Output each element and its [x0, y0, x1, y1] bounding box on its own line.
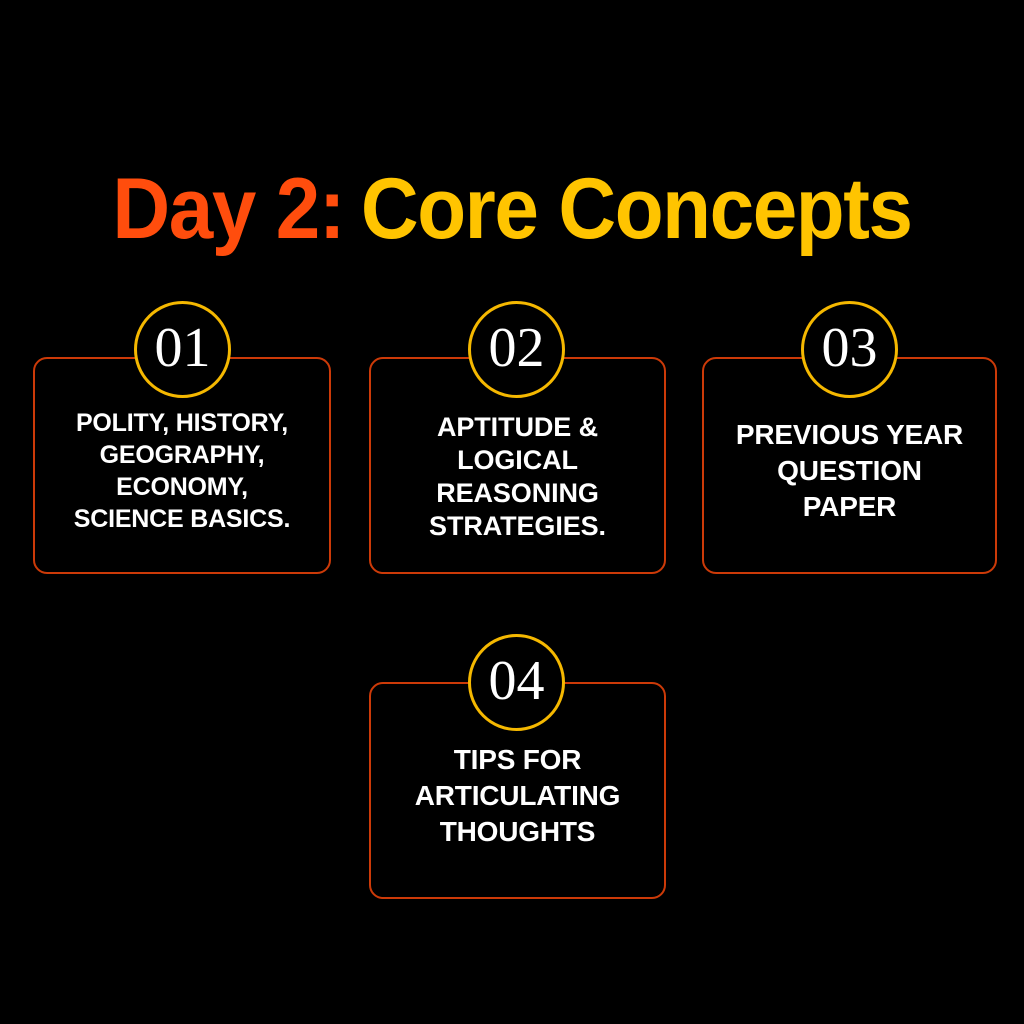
- concept-badge-2: 02: [468, 301, 565, 398]
- concept-badge-3: 03: [801, 301, 898, 398]
- concept-badge-3-number: 03: [822, 320, 878, 376]
- concept-card-2-text: APTITUDE & LOGICAL REASONING STRATEGIES.: [379, 411, 656, 543]
- concept-card-4-text: TIPS FOR ARTICULATING THOUGHTS: [379, 742, 656, 850]
- concept-badge-4: 04: [468, 634, 565, 731]
- concept-card-1-text: POLITY, HISTORY, GEOGRAPHY, ECONOMY, SCI…: [43, 407, 321, 535]
- slide-canvas: Day 2:Core Concepts POLITY, HISTORY, GEO…: [0, 0, 1024, 1024]
- concept-badge-1-number: 01: [155, 320, 211, 376]
- concept-badge-1: 01: [134, 301, 231, 398]
- concept-card-3-text: PREVIOUS YEAR QUESTION PAPER: [712, 417, 987, 525]
- concept-badge-4-number: 04: [489, 653, 545, 709]
- page-title: Day 2:Core Concepts: [36, 161, 988, 257]
- concept-badge-2-number: 02: [489, 320, 545, 376]
- title-part-day: Day 2:: [112, 161, 344, 257]
- title-part-core: Core Concepts: [361, 161, 912, 257]
